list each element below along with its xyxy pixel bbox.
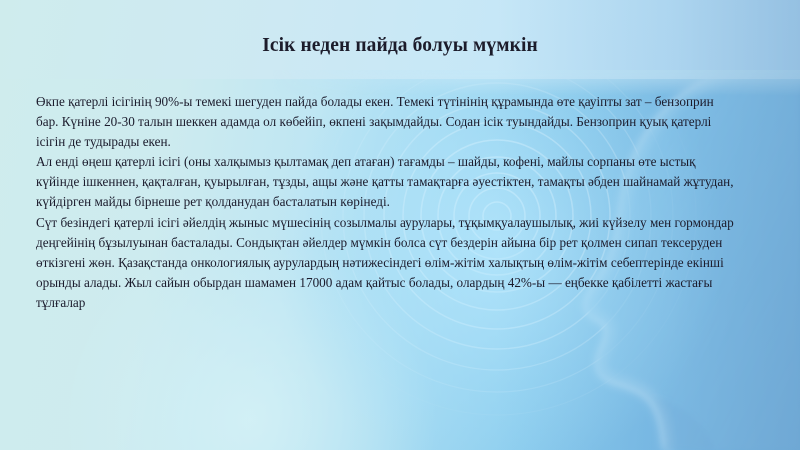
body-paragraph-2: Ал енді өңеш қатерлі ісігі (оны халқымыз…	[36, 152, 736, 212]
body-paragraph-1: Өкпе қатерлі ісігінің 90%-ы темекі шегуд…	[36, 92, 736, 152]
slide-content: Ісік неден пайда болуы мүмкін Өкпе қатер…	[0, 0, 800, 450]
slide-body: Өкпе қатерлі ісігінің 90%-ы темекі шегуд…	[36, 92, 736, 313]
body-paragraph-3: Сүт безіндегі қатерлі ісігі әйелдің жыны…	[36, 213, 736, 313]
presentation-slide: Ісік неден пайда болуы мүмкін Өкпе қатер…	[0, 0, 800, 450]
slide-title: Ісік неден пайда болуы мүмкін	[36, 34, 764, 57]
